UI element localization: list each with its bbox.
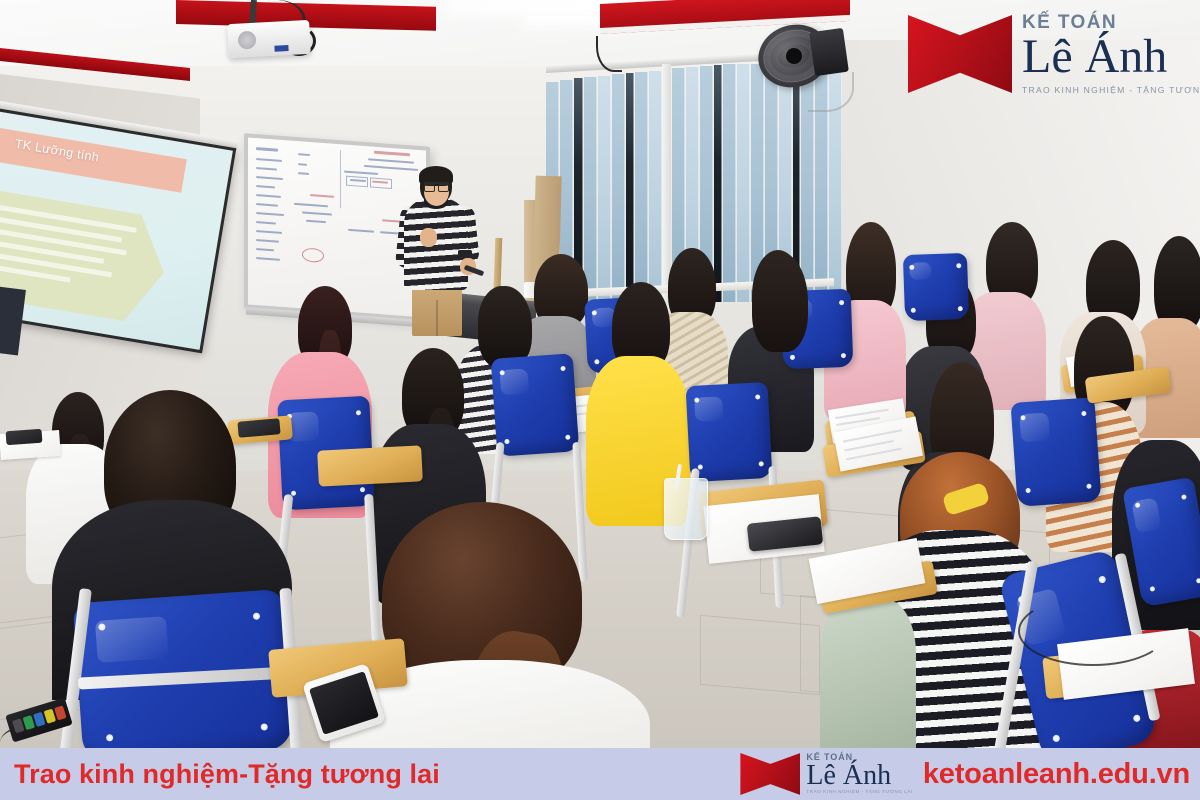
ceiling-light-fixture (450, 0, 623, 10)
ceiling-projector-icon (227, 20, 311, 58)
floor-cable (1018, 596, 1168, 666)
projector-lens (238, 31, 257, 50)
plastic-cup-icon (664, 478, 708, 540)
fan-wall-bracket (809, 28, 849, 76)
logo-tagline-small: TRAO KINH NGHIỆM - TẶNG TƯƠNG LAI (806, 790, 913, 795)
logo-tagline: TRAO KINH NGHIỆM - TẶNG TƯƠNG LAI (1022, 86, 1200, 95)
projection-screen: TK Lưỡng tính (0, 104, 236, 353)
ceiling-light-fixture-secondary (527, 16, 600, 25)
logo-name-small: Lê Ánh (806, 762, 913, 790)
brand-logo-top: KẾ TOÁN Lê Ánh TRAO KINH NGHIỆM - TẶNG T… (908, 2, 1194, 106)
bowtie-logo-icon (908, 15, 1012, 93)
bottom-banner: Trao kinh nghiệm-Tặng tương lai KẾ TOÁN … (0, 748, 1200, 800)
slide-surface: TK Lưỡng tính (0, 107, 233, 349)
whiteboard-circled-note (302, 247, 324, 263)
projector-indicator (274, 45, 288, 52)
tablet-desk-middle-3 (317, 445, 423, 486)
logo-name: Lê Ánh (1022, 33, 1200, 81)
calculator-icon-2 (6, 429, 43, 445)
brand-logo-bottom: KẾ TOÁN Lê Ánh TRAO KINH NGHIỆM - TẶNG T… (740, 753, 913, 795)
banner-right-group: KẾ TOÁN Lê Ánh TRAO KINH NGHIỆM - TẶNG T… (740, 753, 1190, 795)
website-url[interactable]: ketoanleanh.edu.vn (923, 758, 1190, 791)
banner-slogan: Trao kinh nghiệm-Tặng tương lai (14, 759, 440, 790)
bowtie-logo-icon-small (740, 753, 800, 795)
classroom-photo: TK Lưỡng tính (0, 0, 1200, 800)
instructor-glasses (424, 182, 449, 188)
